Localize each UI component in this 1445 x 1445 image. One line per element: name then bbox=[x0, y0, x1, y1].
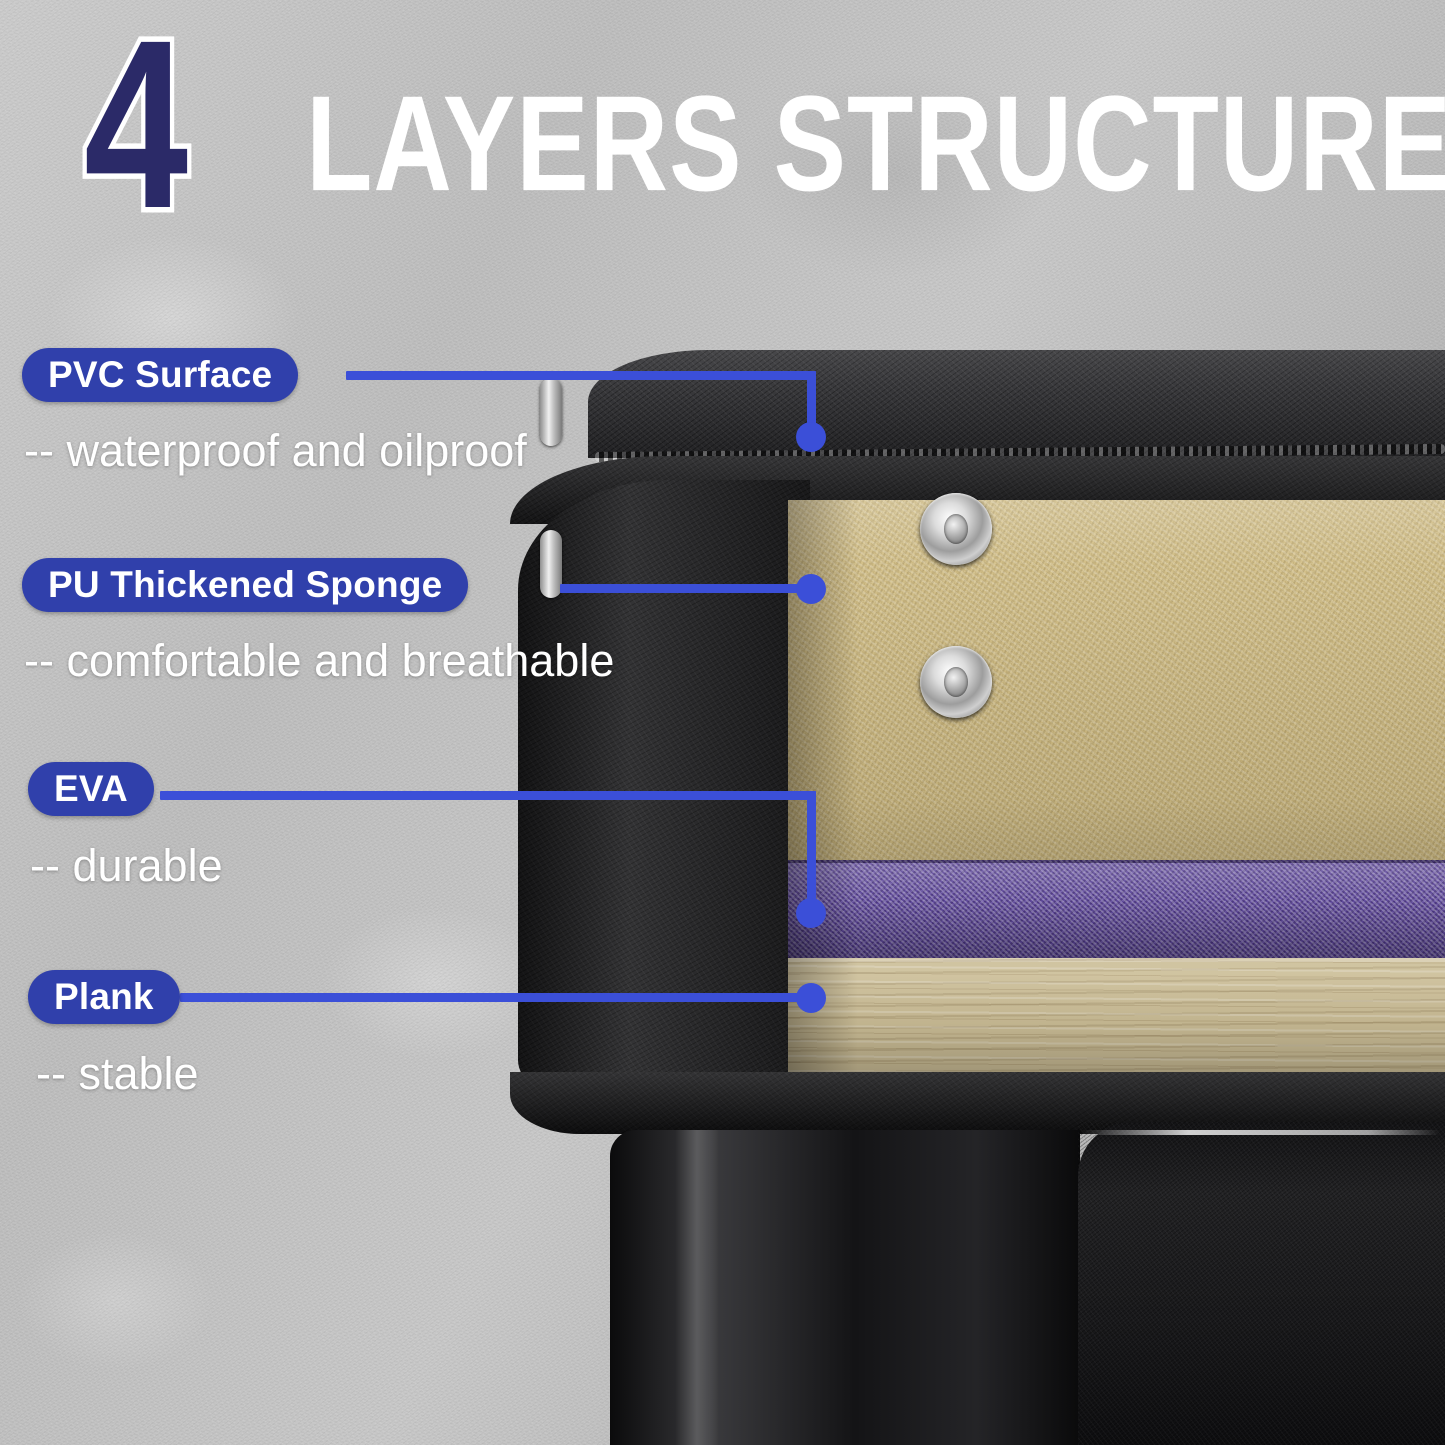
frame-gloss-reflection bbox=[675, 1130, 719, 1445]
leader-dot-pvc bbox=[796, 422, 826, 452]
leader-line-eva-vertical bbox=[807, 791, 816, 909]
silver-rivet-upper bbox=[540, 378, 562, 446]
chrome-screw-lower bbox=[920, 646, 992, 718]
callout-badge-eva[interactable]: EVA bbox=[28, 762, 154, 816]
leader-dot-pu bbox=[796, 574, 826, 604]
callout-description-plank: -- stable bbox=[36, 1048, 199, 1100]
leader-line-plank-horizontal bbox=[180, 993, 812, 1002]
metal-frame-texture bbox=[1078, 1122, 1445, 1445]
page-title: LAYERS STRUCTURE bbox=[306, 82, 1445, 207]
chrome-screw-upper bbox=[920, 493, 992, 565]
pu-sponge-layer bbox=[788, 500, 1445, 862]
callout-badge-pu-sponge[interactable]: PU Thickened Sponge bbox=[22, 558, 468, 612]
layer-count-number: 4 bbox=[84, 24, 185, 224]
leader-dot-plank bbox=[796, 983, 826, 1013]
callout-description-pu-sponge: -- comfortable and breathable bbox=[24, 635, 614, 687]
silver-rivet-lower bbox=[540, 530, 562, 598]
pvc-top-cushion-band bbox=[588, 350, 1445, 458]
callout-description-pvc-surface: -- waterproof and oilproof bbox=[24, 425, 527, 477]
leader-line-eva-horizontal bbox=[160, 791, 816, 800]
eva-foam-layer bbox=[788, 860, 1445, 960]
wood-plank-layer bbox=[788, 958, 1445, 1078]
product-cross-section-photo bbox=[470, 330, 1445, 1445]
callout-badge-pvc-surface[interactable]: PVC Surface bbox=[22, 348, 298, 402]
callout-badge-plank[interactable]: Plank bbox=[28, 970, 180, 1024]
leader-line-pvc-horizontal bbox=[346, 371, 816, 380]
header: 4 LAYERS STRUCTURE bbox=[0, 0, 1445, 240]
frame-highlight-edge bbox=[1080, 1130, 1440, 1135]
callout-description-eva: -- durable bbox=[30, 840, 223, 892]
leader-line-pu-horizontal bbox=[560, 584, 810, 593]
metal-frame-right-panel bbox=[1078, 1122, 1445, 1445]
leader-dot-eva bbox=[796, 898, 826, 928]
